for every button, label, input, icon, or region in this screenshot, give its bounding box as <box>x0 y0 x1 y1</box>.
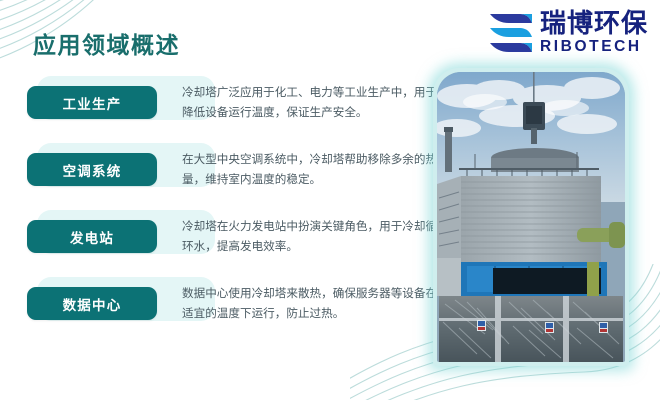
list-item: 数据中心 数据中心使用冷却塔来散热，确保服务器等设备在适宜的温度下运行，防止过热… <box>27 279 427 346</box>
chip-label: 空调系统 <box>63 160 122 180</box>
brand-name-en: RIBOTECH <box>540 39 648 55</box>
list-item: 空调系统 在大型中央空调系统中，冷却塔帮助移除多余的热量，维持室内温度的稳定。 <box>27 145 427 212</box>
cooling-tower-installation-photo <box>437 72 625 362</box>
chip-label: 工业生产 <box>63 93 122 113</box>
page-title: 应用领域概述 <box>33 26 180 60</box>
category-chip-industrial-production[interactable]: 工业生产 <box>27 86 157 119</box>
brand-logo: 瑞博环保 RIBOTECH <box>489 8 648 58</box>
application-areas-list: 工业生产 冷却塔广泛应用于化工、电力等工业生产中，用于降低设备运行温度，保证生产… <box>27 78 427 346</box>
chip-label: 数据中心 <box>63 294 122 314</box>
category-chip-data-center[interactable]: 数据中心 <box>27 287 157 320</box>
chip-label: 发电站 <box>70 227 114 247</box>
category-description: 冷却塔广泛应用于化工、电力等工业生产中，用于降低设备运行温度，保证生产安全。 <box>182 82 444 122</box>
list-item: 工业生产 冷却塔广泛应用于化工、电力等工业生产中，用于降低设备运行温度，保证生产… <box>27 78 427 145</box>
brand-name-cn: 瑞博环保 <box>540 11 648 37</box>
category-description: 在大型中央空调系统中，冷却塔帮助移除多余的热量，维持室内温度的稳定。 <box>182 149 444 189</box>
category-chip-air-conditioning[interactable]: 空调系统 <box>27 153 157 186</box>
brand-logo-text: 瑞博环保 RIBOTECH <box>540 11 648 55</box>
list-item: 发电站 冷却塔在火力发电站中扮演关键角色，用于冷却循环水，提高发电效率。 <box>27 212 427 279</box>
category-chip-power-plant[interactable]: 发电站 <box>27 220 157 253</box>
ribotech-logo-mark-icon <box>489 12 533 54</box>
category-description: 冷却塔在火力发电站中扮演关键角色，用于冷却循环水，提高发电效率。 <box>182 216 444 256</box>
category-description: 数据中心使用冷却塔来散热，确保服务器等设备在适宜的温度下运行，防止过热。 <box>182 283 444 323</box>
slide-canvas: 瑞博环保 RIBOTECH 应用领域概述 工业生产 冷却塔广泛应用于化工、电力等… <box>0 0 660 400</box>
